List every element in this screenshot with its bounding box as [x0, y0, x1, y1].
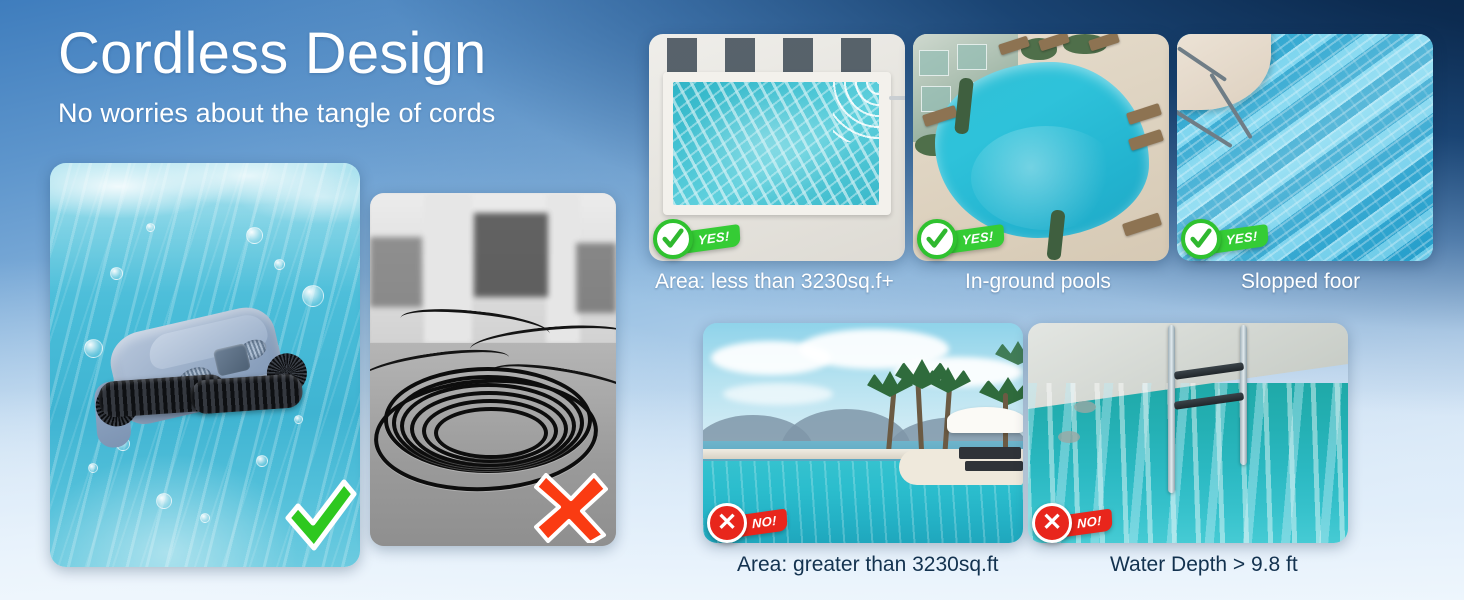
page-title: Cordless Design: [58, 22, 487, 86]
window: [957, 44, 987, 70]
pool-drain: [1058, 431, 1080, 443]
bubble-icon: [88, 463, 98, 473]
caption-inground-pools: In-ground pools: [965, 270, 1111, 294]
bubble-icon: [200, 513, 210, 523]
deck-shadows: [667, 38, 887, 72]
no-badge: ✕ NO!: [1032, 503, 1112, 543]
wall-column: [546, 193, 580, 343]
lounge-chair: [959, 447, 1021, 459]
dark-furniture: [576, 243, 616, 313]
caption-water-depth: Water Depth > 9.8 ft: [1110, 553, 1298, 577]
dark-furniture: [370, 237, 422, 307]
yes-badge: YES!: [653, 219, 740, 259]
check-circle-icon: [1181, 219, 1221, 259]
robot-control-panel: [213, 343, 251, 377]
dark-furniture: [474, 213, 548, 297]
check-icon: [1190, 228, 1212, 250]
pool-steps: [833, 82, 879, 142]
caption-area-less: Area: less than 3230sq.f+: [655, 270, 894, 294]
caption-slopped-floor: Slopped foor: [1241, 270, 1360, 294]
cross-icon: ✕: [1042, 511, 1062, 535]
robot-track: [189, 373, 303, 415]
no-badge: ✕ NO!: [707, 503, 787, 543]
bubble-icon: [156, 493, 172, 509]
bubble-icon: [256, 455, 268, 467]
approved-check-icon: [282, 478, 358, 556]
bubble-icon: [302, 285, 324, 307]
ladder-rail: [1168, 325, 1175, 493]
promo-banner: Cordless Design No worries about the tan…: [0, 0, 1464, 600]
rejected-cross-icon: [534, 473, 608, 543]
window: [919, 50, 949, 76]
yes-badge: YES!: [917, 219, 1004, 259]
pool-water: [673, 82, 879, 205]
caption-area-greater: Area: greater than 3230sq.ft: [737, 553, 999, 577]
water-highlight: [971, 126, 1121, 230]
bubble-icon: [274, 259, 285, 270]
cross-icon: ✕: [717, 511, 737, 535]
pool-handrail: [889, 96, 905, 100]
bubble-icon: [110, 267, 123, 280]
check-icon: [662, 228, 684, 250]
check-circle-icon: [917, 219, 957, 259]
cloud: [723, 383, 833, 405]
yes-badge: YES!: [1181, 219, 1268, 259]
page-subtitle: No worries about the tangle of cords: [58, 98, 495, 129]
check-circle-icon: [653, 219, 693, 259]
lounge-chair: [965, 461, 1023, 471]
bubble-icon: [246, 227, 263, 244]
cross-circle-icon: ✕: [707, 503, 747, 543]
cross-circle-icon: ✕: [1032, 503, 1072, 543]
bubble-icon: [146, 223, 155, 232]
patio-umbrella: [947, 407, 1023, 433]
pool-drain: [1074, 401, 1096, 413]
check-icon: [926, 228, 948, 250]
